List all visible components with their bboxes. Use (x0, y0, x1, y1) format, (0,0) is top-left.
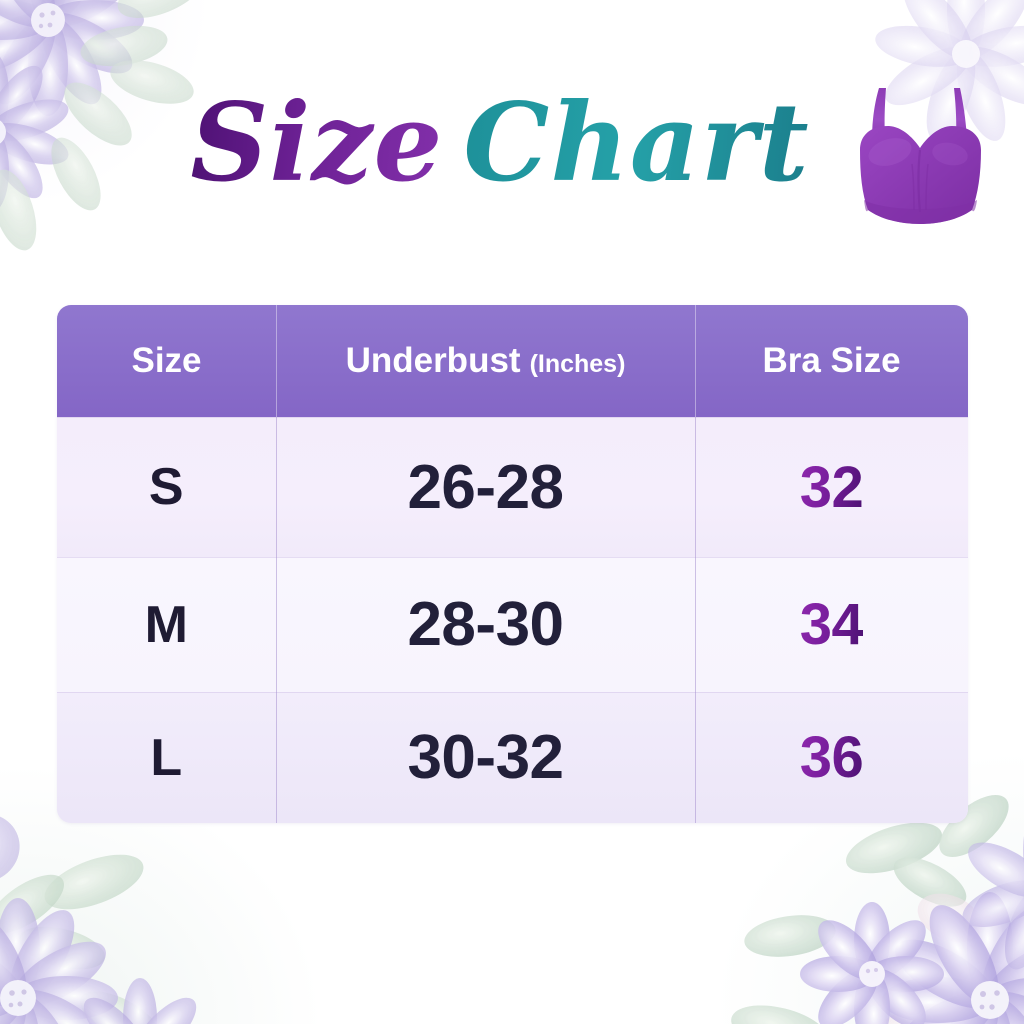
cell-size: M (57, 557, 276, 692)
column-header-underbust: Underbust (Inches) (276, 305, 695, 417)
table-row: L 30-32 36 (57, 692, 968, 823)
cell-underbust-value: 30-32 (407, 722, 563, 793)
cell-size: S (57, 417, 276, 557)
cell-size-value: M (145, 595, 189, 655)
column-header-size-label: Size (131, 341, 201, 381)
cell-bra-size-value: 32 (800, 454, 864, 521)
cell-bra-size: 36 (695, 692, 968, 823)
table-row: S 26-28 32 (57, 417, 968, 557)
bralette-product-image (838, 78, 1008, 248)
cell-underbust: 28-30 (276, 557, 695, 692)
cell-bra-size: 32 (695, 417, 968, 557)
cell-underbust-value: 28-30 (407, 589, 563, 660)
cell-bra-size: 34 (695, 557, 968, 692)
column-header-size: Size (57, 305, 276, 417)
column-header-bra-size-label: Bra Size (762, 341, 900, 381)
cell-size-value: L (150, 728, 182, 788)
cell-underbust: 30-32 (276, 692, 695, 823)
table-row: M 28-30 34 (57, 557, 968, 692)
column-header-underbust-unit: (Inches) (530, 350, 626, 379)
column-header-underbust-label: Underbust (346, 341, 521, 381)
cell-underbust: 26-28 (276, 417, 695, 557)
cell-underbust-value: 26-28 (407, 452, 563, 523)
cell-size-value: S (149, 457, 184, 517)
table-header-row: Size Underbust (Inches) Bra Size (57, 305, 968, 417)
cell-size: L (57, 692, 276, 823)
page-title-word-chart: Chart (449, 80, 809, 206)
cell-bra-size-value: 34 (800, 591, 864, 658)
size-chart-page: SizeChart (0, 0, 1024, 1024)
cell-bra-size-value: 36 (800, 724, 864, 791)
page-title-word-size: Size (190, 80, 449, 206)
column-header-bra-size: Bra Size (695, 305, 968, 417)
size-chart-table: Size Underbust (Inches) Bra Size S 26-28… (57, 305, 968, 823)
